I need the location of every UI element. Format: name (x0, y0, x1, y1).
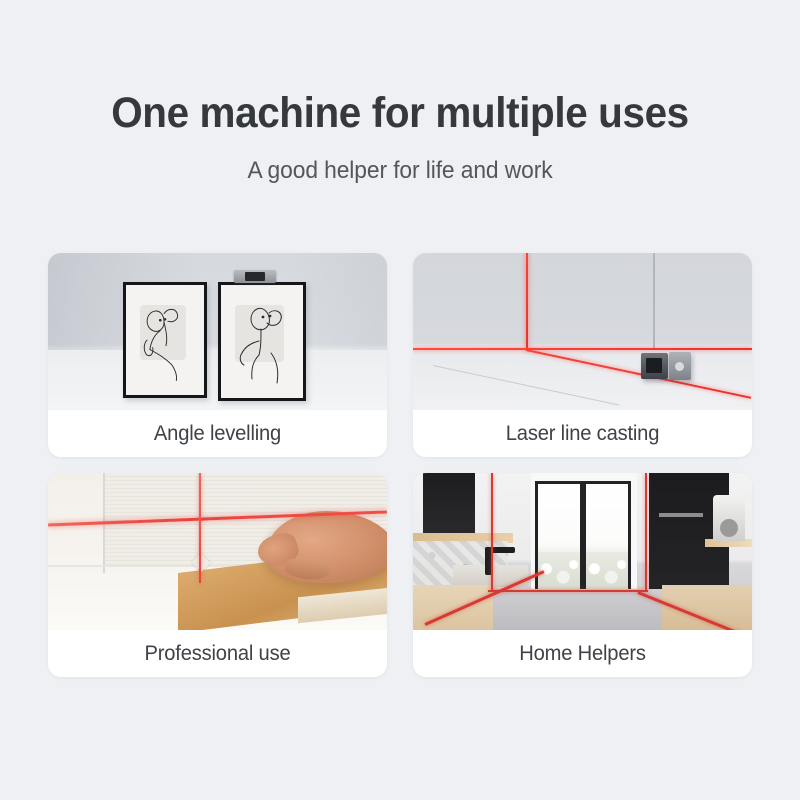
feature-card-home-helpers[interactable]: Home Helpers (413, 473, 752, 677)
installer-hand (266, 511, 387, 583)
page-subtitle: A good helper for life and work (20, 135, 780, 185)
card-caption: Professional use (55, 630, 380, 677)
card-caption: Home Helpers (420, 630, 745, 677)
photo-laser-line-casting (413, 253, 752, 410)
laser-beam-vertical (526, 253, 528, 349)
line-art-figure-icon (227, 291, 297, 391)
window-view-foliage (586, 552, 628, 594)
laser-beam-vertical-right (645, 473, 647, 591)
laser-lens-icon (248, 274, 253, 279)
photo-home-helpers (413, 473, 752, 630)
laser-level-device-back (669, 352, 691, 380)
laser-lens-icon (675, 362, 684, 371)
laser-beam-vertical (199, 473, 201, 583)
line-art-figure-icon (132, 291, 198, 385)
laser-level-device (234, 270, 276, 283)
laser-beam-horizontal (488, 590, 648, 592)
open-shelf (659, 513, 703, 517)
floor-tile-seam (433, 365, 619, 406)
frame-artwork-right (227, 291, 297, 392)
feature-card-angle-levelling[interactable]: Angle levelling (48, 253, 387, 457)
hand-fingers (283, 557, 331, 582)
laser-beam-vertical-left (491, 473, 493, 591)
laser-level-device-front (641, 353, 668, 379)
feature-card-professional-use[interactable]: Professional use (48, 473, 387, 677)
picture-frame-left (123, 282, 207, 398)
page-title: One machine for multiple uses (24, 92, 776, 135)
photo-angle-levelling (48, 253, 387, 410)
feature-card-laser-line-casting[interactable]: Laser line casting (413, 253, 752, 457)
wall-corner-edge (653, 253, 655, 348)
photo-professional-use (48, 473, 387, 630)
feature-card-grid: Angle levelling Laser line casting (48, 253, 752, 677)
header: One machine for multiple uses A good hel… (0, 0, 800, 185)
window-right (583, 481, 631, 597)
upper-cabinet-left (423, 473, 475, 535)
window-view-foliage (538, 552, 580, 594)
window-left (535, 481, 583, 597)
card-caption: Laser line casting (420, 410, 745, 457)
coffee-machine (713, 495, 745, 541)
laser-beam-horizontal (413, 348, 752, 350)
card-caption: Angle levelling (55, 410, 380, 457)
picture-frame-right (218, 282, 306, 401)
frame-artwork-left (132, 291, 198, 389)
